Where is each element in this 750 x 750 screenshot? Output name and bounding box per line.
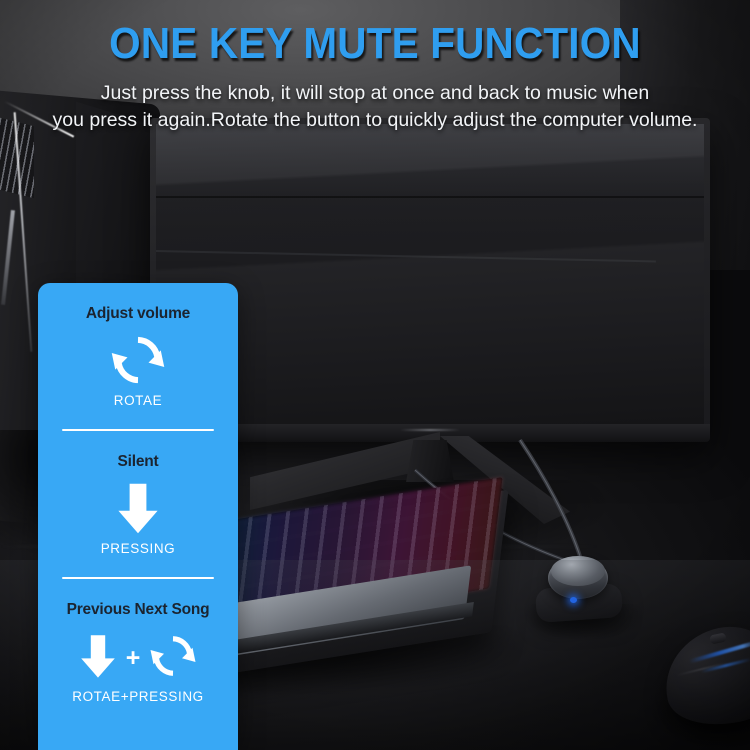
page-subtitle: Just press the knob, it will stop at onc… [0,66,750,134]
feature-icon-row [48,477,228,539]
feature-panel: Adjust volume ROTAE Silent [38,283,238,750]
rotate-icon [110,332,166,388]
monitor-screen-glow [156,124,704,234]
monitor-screen-band-upper [156,196,704,198]
feature-adjust-volume: Adjust volume ROTAE [38,283,238,431]
feature-title: Silent [48,453,228,471]
subtitle-line-1: Just press the knob, it will stop at onc… [0,80,750,107]
feature-icon-row: + [48,625,228,687]
feature-title: Previous Next Song [48,601,228,619]
feature-caption: PRESSING [48,539,228,556]
feature-caption: ROTAE+PRESSING [48,687,228,704]
feature-previous-next-song: Previous Next Song + ROTAE+ [38,579,238,704]
feature-title: Adjust volume [48,305,228,323]
feature-caption: ROTAE [48,391,228,408]
header-block: ONE KEY MUTE FUNCTION Just press the kno… [0,0,750,134]
feature-silent: Silent PRESSING [38,431,238,579]
feature-icon-row [48,329,228,391]
plus-icon: + [126,646,141,671]
rotate-icon [149,632,197,680]
down-arrow-icon [79,632,117,680]
subtitle-line-2: you press it again.Rotate the button to … [0,107,750,134]
monitor-power-light [400,429,460,431]
page-title: ONE KEY MUTE FUNCTION [30,0,720,66]
product-marketing-image: ONE KEY MUTE FUNCTION Just press the kno… [0,0,750,750]
down-arrow-icon [115,480,161,536]
